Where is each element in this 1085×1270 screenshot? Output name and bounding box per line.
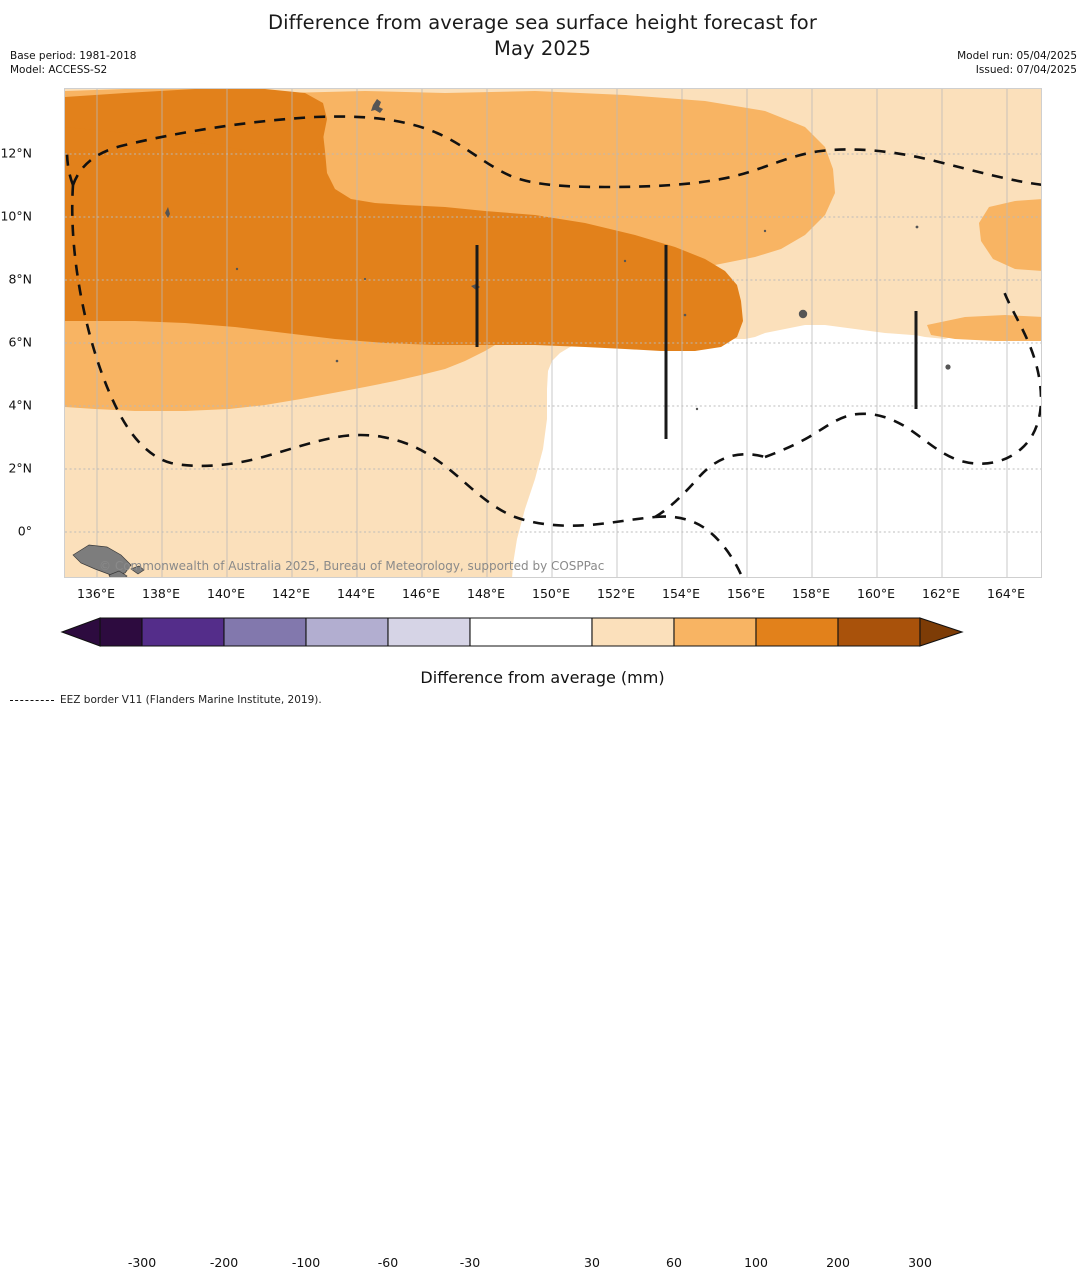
colorbar-seg-0 [100, 618, 142, 646]
x-axis-tick-138e: 138°E [142, 586, 180, 601]
colorbar-tick--200: -200 [210, 1255, 238, 1270]
x-axis-tick-152e: 152°E [597, 586, 635, 601]
colorbar-seg-9 [838, 618, 920, 646]
y-axis-tick-10n: 10°N [0, 209, 32, 224]
colorbar-seg-3 [306, 618, 388, 646]
x-axis-tick-150e: 150°E [532, 586, 570, 601]
y-axis-tick-6n: 6°N [8, 335, 32, 350]
colorbar: -300 -200 -100 -60 -30 30 60 100 200 300 [0, 612, 1085, 654]
x-axis-tick-146e: 146°E [402, 586, 440, 601]
colorbar-tick--60: -60 [378, 1255, 398, 1270]
page-title: Difference from average sea surface heig… [0, 10, 1085, 62]
colorbar-seg-8 [756, 618, 838, 646]
colorbar-tick-60: 60 [666, 1255, 682, 1270]
y-axis-tick-2n: 2°N [8, 461, 32, 476]
x-axis-tick-162e: 162°E [922, 586, 960, 601]
colorbar-seg-1 [142, 618, 224, 646]
colorbar-tick--30: -30 [460, 1255, 480, 1270]
model-run-text: Model run: 05/04/2025 [957, 50, 1077, 64]
title-line-2: May 2025 [0, 36, 1085, 62]
x-axis-tick-156e: 156°E [727, 586, 765, 601]
metadata-left: Base period: 1981-2018 Model: ACCESS-S2 [10, 50, 136, 77]
x-axis-tick-164e: 164°E [987, 586, 1025, 601]
x-axis-tick-142e: 142°E [272, 586, 310, 601]
y-axis-tick-4n: 4°N [8, 398, 32, 413]
colorbar-seg-4 [388, 618, 470, 646]
x-axis-tick-160e: 160°E [857, 586, 895, 601]
y-axis-tick-0: 0° [18, 524, 32, 539]
colorbar-title: Difference from average (mm) [0, 668, 1085, 687]
colorbar-tick-30: 30 [584, 1255, 600, 1270]
colorbar-arrow-high [920, 618, 962, 646]
footer-legend: EEZ border V11 (Flanders Marine Institut… [10, 694, 322, 706]
base-period-text: Base period: 1981-2018 [10, 50, 136, 64]
map-contour-canvas [65, 89, 1042, 578]
x-axis-tick-154e: 154°E [662, 586, 700, 601]
colorbar-tick--300: -300 [128, 1255, 156, 1270]
x-axis-tick-148e: 148°E [467, 586, 505, 601]
colorbar-tick-100: 100 [744, 1255, 768, 1270]
colorbar-seg-2 [224, 618, 306, 646]
x-axis-tick-140e: 140°E [207, 586, 245, 601]
issued-text: Issued: 07/04/2025 [957, 64, 1077, 78]
metadata-right: Model run: 05/04/2025 Issued: 07/04/2025 [957, 50, 1077, 77]
y-axis-tick-8n: 8°N [8, 272, 32, 287]
y-axis-tick-12n: 12°N [0, 146, 32, 161]
colorbar-canvas [0, 612, 1085, 654]
colorbar-seg-7 [674, 618, 756, 646]
colorbar-tick--100: -100 [292, 1255, 320, 1270]
colorbar-seg-5 [470, 618, 592, 646]
x-axis-tick-144e: 144°E [337, 586, 375, 601]
title-line-1: Difference from average sea surface heig… [268, 11, 817, 34]
x-axis-tick-158e: 158°E [792, 586, 830, 601]
model-text: Model: ACCESS-S2 [10, 64, 136, 78]
eez-dash-sample-icon [10, 700, 54, 701]
x-axis-tick-136e: 136°E [77, 586, 115, 601]
footer-legend-text: EEZ border V11 (Flanders Marine Institut… [60, 694, 322, 706]
map-plot-area: © Commonwealth of Australia 2025, Bureau… [64, 88, 1042, 578]
colorbar-tick-300: 300 [908, 1255, 932, 1270]
colorbar-tick-200: 200 [826, 1255, 850, 1270]
colorbar-seg-6 [592, 618, 674, 646]
colorbar-arrow-low [62, 618, 100, 646]
